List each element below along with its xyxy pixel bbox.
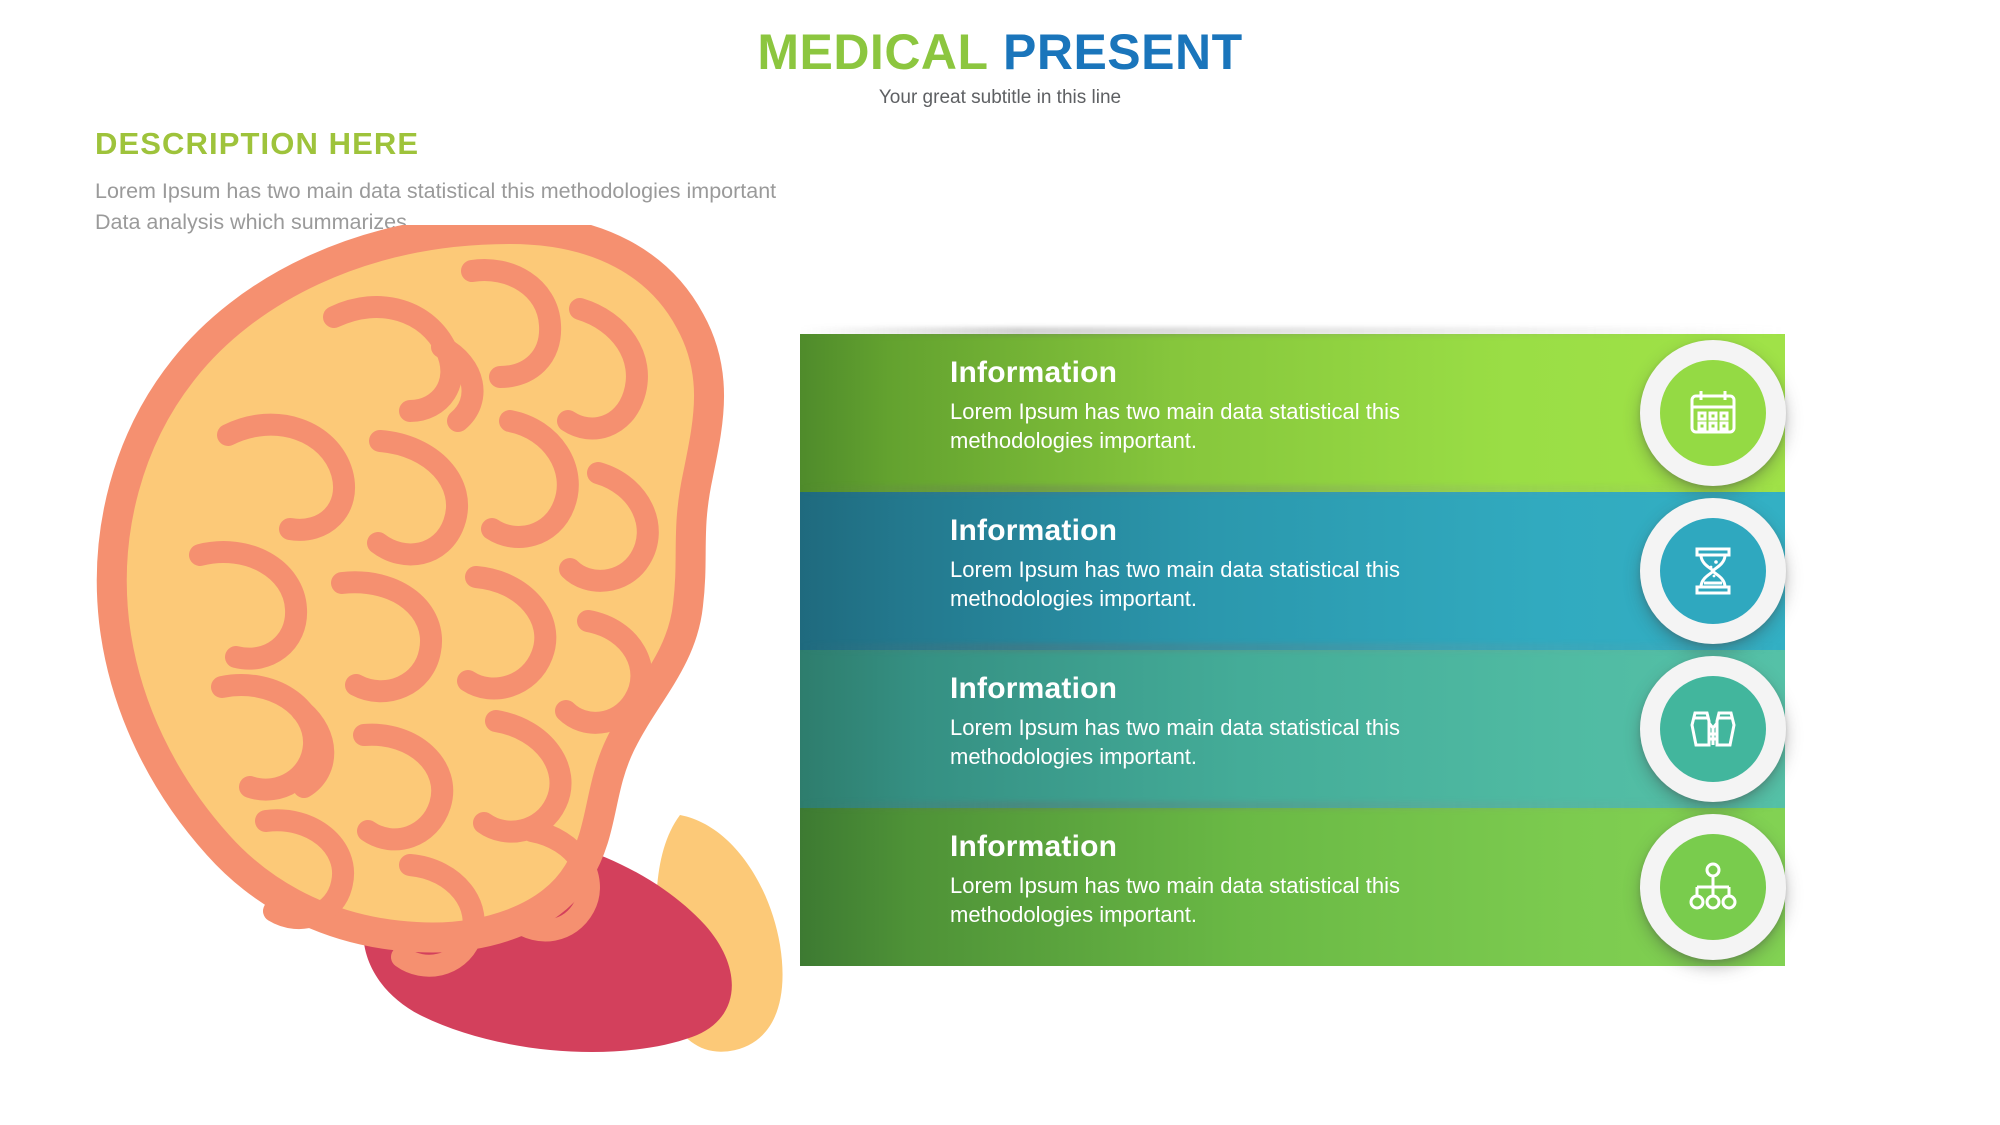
bar-body-3: Lorem Ipsum has two main data statistica… bbox=[950, 713, 1510, 772]
information-bar-3[interactable]: Information Lorem Ipsum has two main dat… bbox=[800, 650, 1785, 808]
bar-title-3: Information bbox=[950, 672, 1650, 706]
bar-body-4: Lorem Ipsum has two main data statistica… bbox=[950, 871, 1510, 930]
bar-text-1: Information Lorem Ipsum has two main dat… bbox=[950, 356, 1650, 455]
bar-text-3: Information Lorem Ipsum has two main dat… bbox=[950, 672, 1650, 771]
binoculars-icon bbox=[1685, 701, 1741, 757]
information-bar-4[interactable]: Information Lorem Ipsum has two main dat… bbox=[800, 808, 1785, 966]
icon-disc-2 bbox=[1660, 518, 1766, 624]
icon-badge-2[interactable] bbox=[1640, 498, 1786, 644]
bar-title-2: Information bbox=[950, 514, 1650, 548]
calendar-icon bbox=[1685, 385, 1741, 441]
bar-top-shadow-2 bbox=[800, 485, 1785, 494]
bar-title-1: Information bbox=[950, 356, 1650, 390]
icon-badge-1[interactable] bbox=[1640, 340, 1786, 486]
bar-top-shadow-3 bbox=[800, 643, 1785, 652]
bar-text-2: Information Lorem Ipsum has two main dat… bbox=[950, 514, 1650, 613]
hierarchy-icon bbox=[1685, 859, 1741, 915]
icon-disc-1 bbox=[1660, 360, 1766, 466]
hourglass-icon bbox=[1685, 543, 1741, 599]
icon-disc-4 bbox=[1660, 834, 1766, 940]
bar-body-2: Lorem Ipsum has two main data statistica… bbox=[950, 555, 1510, 614]
information-bar-2[interactable]: Information Lorem Ipsum has two main dat… bbox=[800, 492, 1785, 650]
icon-disc-3 bbox=[1660, 676, 1766, 782]
bar-top-shadow-1 bbox=[800, 327, 1785, 336]
icon-badge-3[interactable] bbox=[1640, 656, 1786, 802]
bar-top-shadow-4 bbox=[800, 801, 1785, 810]
information-bar-1[interactable]: Information Lorem Ipsum has two main dat… bbox=[800, 334, 1785, 492]
slide-canvas: MEDICAL PRESENT Your great subtitle in t… bbox=[0, 0, 2000, 1125]
bar-text-4: Information Lorem Ipsum has two main dat… bbox=[950, 830, 1650, 929]
bar-body-1: Lorem Ipsum has two main data statistica… bbox=[950, 397, 1510, 456]
icon-badge-4[interactable] bbox=[1640, 814, 1786, 960]
bar-title-4: Information bbox=[950, 830, 1650, 864]
